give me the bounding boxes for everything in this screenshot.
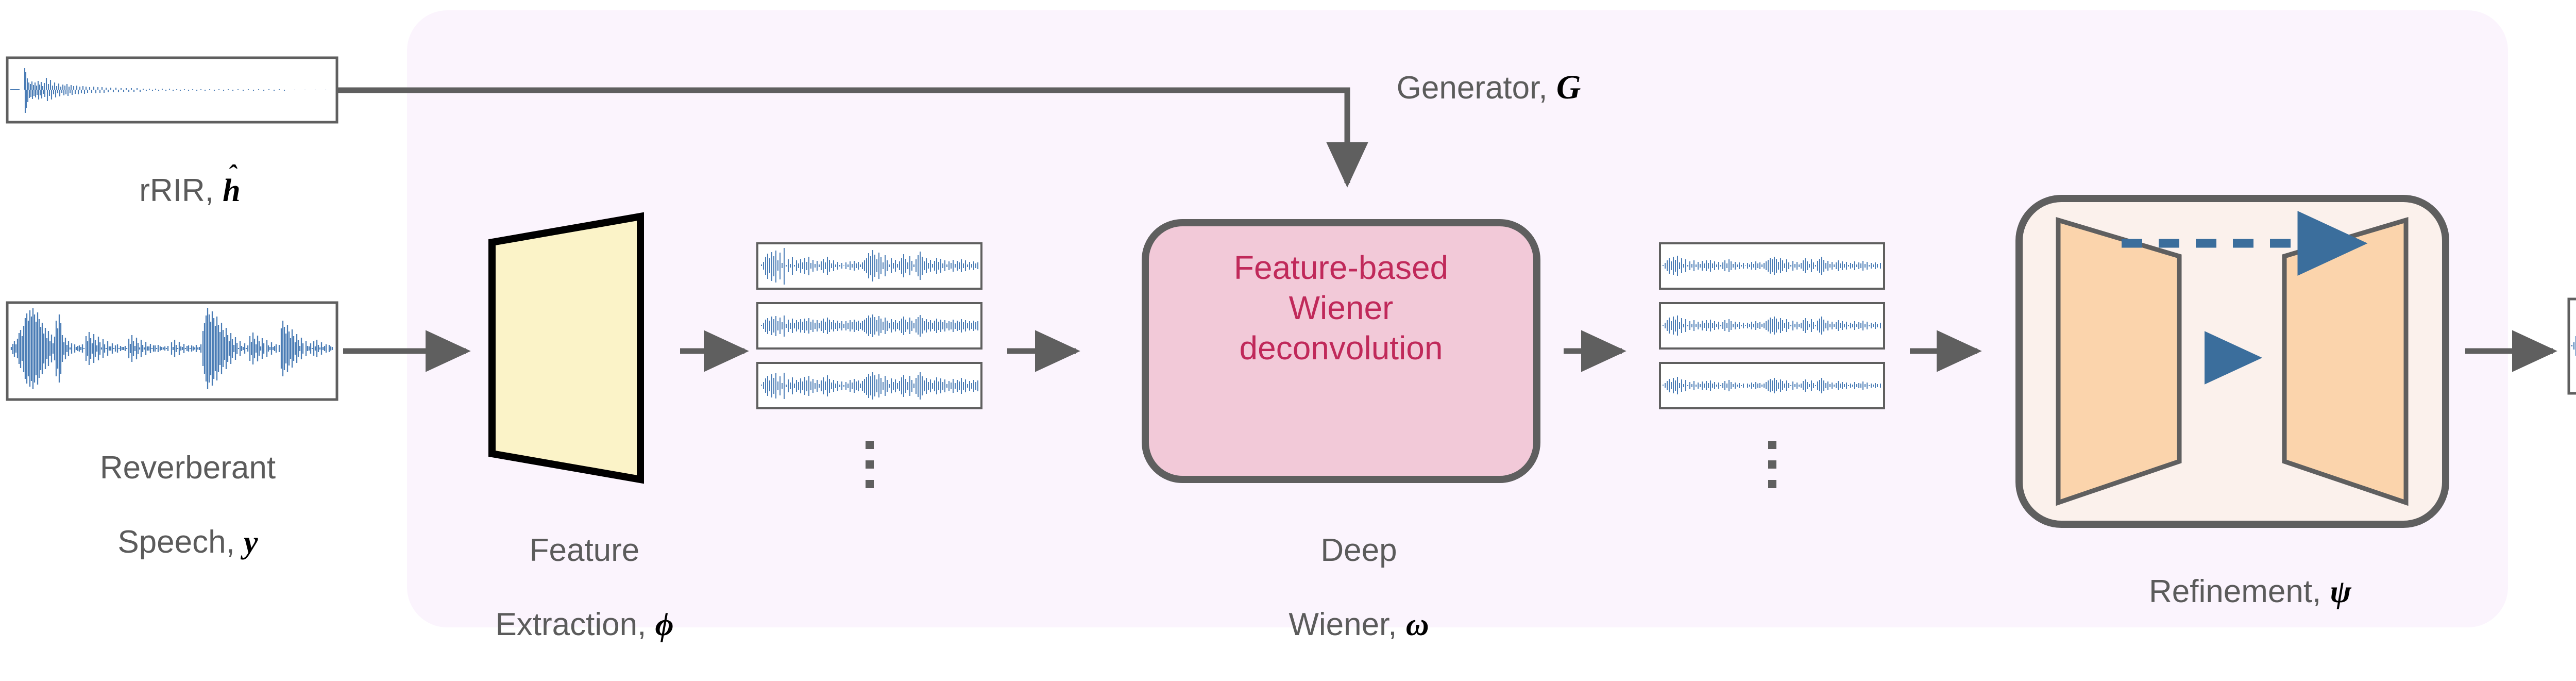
stack-b-ellipsis [1768, 441, 1776, 488]
stack-a-box-1 [757, 243, 981, 289]
waveform-stack-b [1660, 243, 1884, 408]
refinement-caption: Refinement, ψ [2019, 536, 2446, 648]
generator-symbol: G [1556, 69, 1581, 106]
diagram-root: Generator, G Discriminators, D rRIR, ̂h … [0, 0, 2576, 638]
feature-extraction-line-2: Extraction, [495, 607, 655, 642]
feature-extraction-symbol: ϕ [655, 607, 674, 642]
reverberant-line-2: Speech, [117, 524, 244, 560]
reverberant-line-1: Reverberant [100, 450, 276, 486]
wiener-line-3: deconvolution [1240, 329, 1443, 367]
feature-extraction-line-1: Feature [530, 533, 640, 568]
refinement-caption-text: Refinement, [2149, 574, 2330, 609]
generator-panel-title: Generator, G [1265, 31, 1677, 144]
reverberant-speech-label: Reverberant Speech, y [0, 412, 340, 599]
refinement-decoder-trapezoid [2284, 220, 2406, 503]
feature-extraction-shape [492, 217, 640, 479]
deep-wiener-caption: Deep Wiener, ω [1176, 495, 1506, 681]
feature-extraction-label: Feature Extraction, ϕ [459, 495, 675, 681]
wiener-line-1: Feature-based [1234, 249, 1448, 286]
refinement-symbol: ψ [2330, 574, 2351, 609]
wiener-line-2: Wiener [1289, 289, 1394, 326]
deep-wiener-line-1: Deep [1320, 533, 1397, 568]
stack-a-box-3 [757, 363, 981, 408]
rrir-label: rRIR, ̂h [7, 135, 337, 247]
reverberant-symbol: y [244, 525, 258, 560]
stack-a-box-2 [757, 303, 981, 348]
stack-a-ellipsis [866, 441, 874, 488]
rrir-symbol: ̂h [223, 173, 240, 210]
waveform-stack-a [757, 243, 981, 408]
rrir-waveform-box [7, 58, 337, 122]
deep-wiener-line-2: Wiener, [1289, 607, 1405, 642]
processed-speech-label: Processed Speech, ̂x [2550, 405, 2576, 591]
generator-title-text: Generator, [1397, 70, 1556, 106]
refinement-encoder-trapezoid [2058, 220, 2179, 503]
deep-wiener-symbol: ω [1406, 607, 1429, 642]
rrir-label-text: rRIR, [139, 173, 223, 208]
wiener-block-text: Feature-based Wiener deconvolution [1156, 247, 1527, 368]
